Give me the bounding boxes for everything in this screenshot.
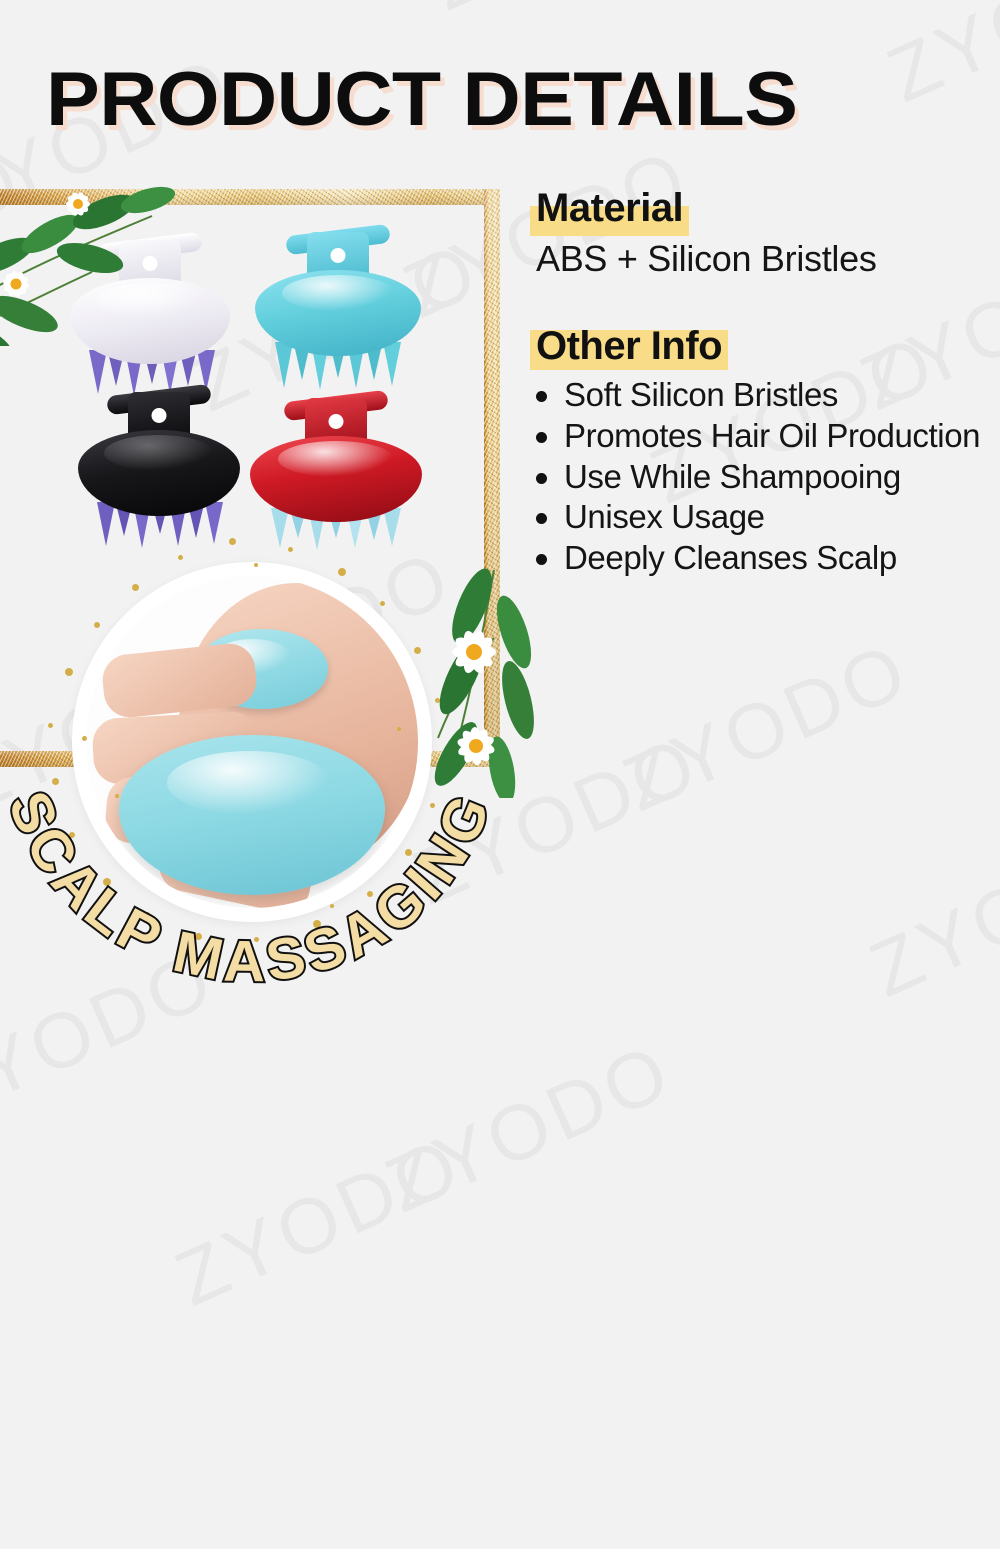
product-image-cyan-scalp-brush bbox=[255, 232, 421, 408]
brush-body-held bbox=[119, 735, 385, 894]
photo-inner bbox=[86, 576, 418, 908]
product-info-panel: Material ABS + Silicon Bristles Other In… bbox=[530, 186, 990, 584]
list-item: Soft Silicon Bristles bbox=[530, 376, 990, 415]
list-item: Promotes Hair Oil Production bbox=[530, 417, 990, 456]
gold-frame-right-edge bbox=[484, 189, 500, 767]
product-image-black-scalp-brush bbox=[78, 392, 240, 564]
lifestyle-photo-hand-holding-brush bbox=[72, 562, 432, 922]
watermark-text: ZYODO bbox=[400, 686, 857, 1087]
other-info-section: Other Info Soft Silicon Bristles Promote… bbox=[530, 324, 990, 577]
gloss-highlight bbox=[104, 435, 214, 471]
handle-hole-white bbox=[143, 256, 158, 271]
watermark-text: ZYODO bbox=[162, 1087, 619, 1488]
page-title: PRODUCT DETAILS bbox=[46, 56, 797, 143]
watermark-text: ZYODO bbox=[171, 0, 628, 7]
list-item: Use While Shampooing bbox=[530, 458, 990, 497]
watermark-text: ZYODO bbox=[372, 993, 829, 1394]
gloss-highlight bbox=[96, 283, 205, 319]
watermark-text: ZYODO bbox=[610, 592, 1000, 993]
material-value: ABS + Silicon Bristles bbox=[536, 238, 990, 280]
list-item: Unisex Usage bbox=[530, 498, 990, 537]
product-image-red-scalp-brush bbox=[250, 398, 422, 574]
handle-hole-cyan bbox=[331, 248, 346, 263]
material-heading-label: Material bbox=[536, 186, 683, 230]
gloss-highlight bbox=[282, 275, 395, 311]
handle-hole-black bbox=[152, 408, 167, 423]
product-image-white-scalp-brush bbox=[70, 240, 230, 410]
list-item: Deeply Cleanses Scalp bbox=[530, 539, 990, 578]
gloss-highlight bbox=[278, 441, 395, 477]
material-section: Material ABS + Silicon Bristles bbox=[530, 186, 990, 280]
other-info-heading: Other Info bbox=[530, 324, 728, 368]
watermark-text: ZYODO bbox=[0, 901, 372, 1302]
material-heading: Material bbox=[530, 186, 689, 230]
other-info-heading-label: Other Info bbox=[536, 324, 722, 368]
gold-frame-top-edge bbox=[0, 189, 500, 205]
watermark-text: ZYODO bbox=[857, 778, 1000, 1179]
feature-list: Soft Silicon Bristles Promotes Hair Oil … bbox=[530, 376, 990, 577]
handle-hole-red bbox=[329, 414, 344, 429]
